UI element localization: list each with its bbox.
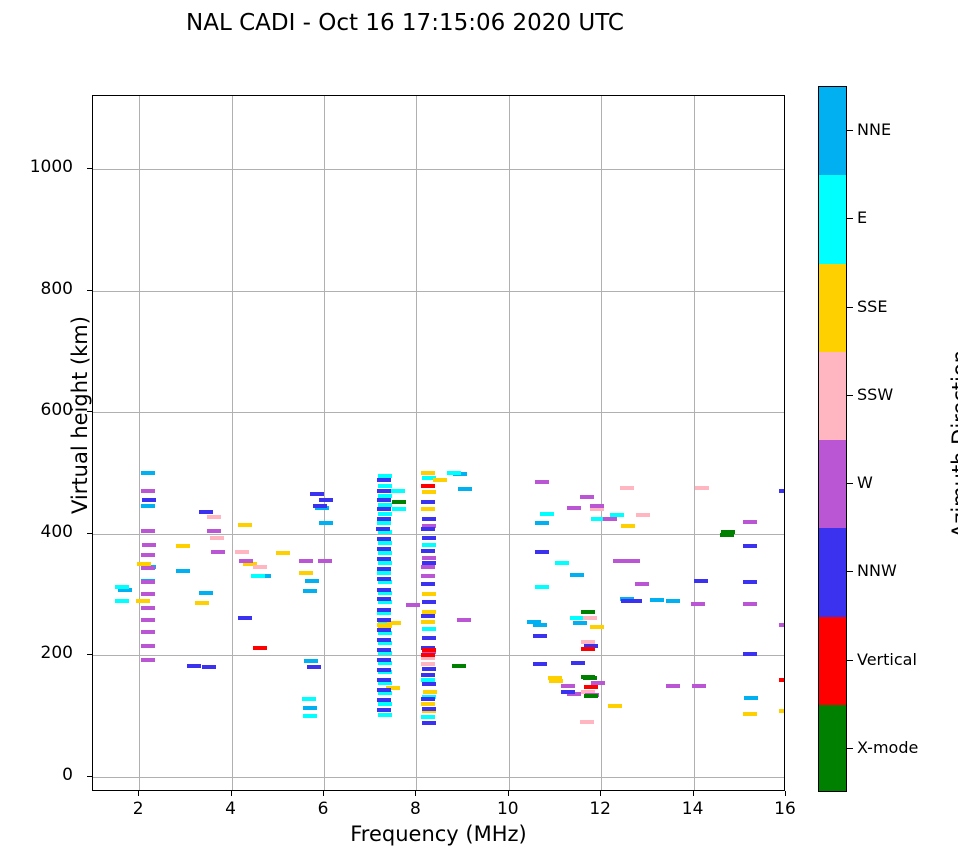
data-mark-w xyxy=(603,517,617,521)
y-tick xyxy=(87,533,92,534)
colorbar-segment-nne xyxy=(819,87,846,176)
data-mark-w xyxy=(141,553,155,557)
colorbar-label-e: E xyxy=(857,208,867,227)
data-mark-nnw xyxy=(571,661,585,665)
data-mark-nnw xyxy=(377,507,391,511)
page-title: NAL CADI - Oct 16 17:15:06 2020 UTC xyxy=(0,10,810,36)
data-mark-e xyxy=(378,512,392,516)
data-mark-nnw xyxy=(377,517,391,521)
data-mark-x-mode xyxy=(392,500,406,504)
data-mark-nne xyxy=(304,659,318,663)
data-mark-nnw xyxy=(421,697,435,701)
data-mark-nnw xyxy=(376,527,390,531)
data-mark-nnw xyxy=(421,614,435,618)
data-mark-e xyxy=(378,541,392,545)
data-mark-vertical xyxy=(581,647,595,651)
data-mark-nne xyxy=(176,569,190,573)
data-mark-nnw xyxy=(421,673,435,677)
data-mark-w xyxy=(743,520,757,524)
colorbar-label-vertical: Vertical xyxy=(857,650,917,669)
x-tick-label: 14 xyxy=(663,799,723,819)
data-mark-e xyxy=(378,713,392,717)
x-tick xyxy=(231,791,232,796)
data-mark-nne xyxy=(141,471,155,475)
x-tick xyxy=(323,791,324,796)
data-mark-nnw xyxy=(533,662,547,666)
data-mark-nnw xyxy=(377,608,391,612)
data-mark-ssw xyxy=(636,513,650,517)
colorbar-tick xyxy=(847,130,853,131)
data-mark-w xyxy=(743,602,757,606)
data-mark-x-mode xyxy=(452,664,466,668)
y-tick xyxy=(87,776,92,777)
data-mark-w xyxy=(211,550,225,554)
colorbar-segment-ssw xyxy=(819,352,846,441)
data-mark-e xyxy=(391,489,405,493)
data-mark-nnw xyxy=(377,668,391,672)
data-mark-ssw xyxy=(207,515,221,519)
data-mark-ssw xyxy=(210,536,224,540)
data-mark-e xyxy=(421,678,435,682)
y-tick-label: 600 xyxy=(0,400,81,420)
data-mark-e xyxy=(303,714,317,718)
data-mark-sse xyxy=(743,712,757,716)
data-mark-e xyxy=(540,512,554,516)
data-mark-nnw xyxy=(307,665,321,669)
data-mark-nne xyxy=(573,621,587,625)
plot-area xyxy=(93,96,784,790)
data-mark-sse xyxy=(195,601,209,605)
data-mark-e xyxy=(378,530,392,534)
data-mark-sse xyxy=(176,544,190,548)
data-mark-e xyxy=(392,507,406,511)
data-mark-nnw xyxy=(743,544,757,548)
data-mark-nnw xyxy=(694,579,708,583)
data-mark-nnw xyxy=(377,588,391,592)
x-tick xyxy=(785,791,786,796)
data-mark-nnw xyxy=(377,658,391,662)
data-mark-nnw xyxy=(422,561,436,565)
data-mark-vertical xyxy=(779,678,784,682)
data-mark-nnw xyxy=(535,550,549,554)
data-mark-nne xyxy=(319,521,333,525)
data-mark-w xyxy=(141,630,155,634)
colorbar-segment-vertical xyxy=(819,617,846,706)
data-mark-e xyxy=(378,551,392,555)
y-tick-label: 1000 xyxy=(0,157,81,177)
y-tick-label: 800 xyxy=(0,279,81,299)
gridline-vertical xyxy=(416,96,417,790)
colorbar-segment-x-mode xyxy=(819,705,846,792)
x-tick xyxy=(138,791,139,796)
plot-frame xyxy=(92,95,785,791)
data-mark-w xyxy=(613,559,627,563)
data-mark-nnw xyxy=(743,652,757,656)
data-mark-sse xyxy=(422,592,436,596)
gridline-vertical xyxy=(509,96,510,790)
data-mark-w xyxy=(207,529,221,533)
data-mark-nnw xyxy=(377,577,391,581)
data-mark-nnw xyxy=(319,498,333,502)
data-mark-sse xyxy=(779,709,784,713)
data-mark-nnw xyxy=(202,665,216,669)
data-mark-sse xyxy=(423,690,437,694)
data-mark-nnw xyxy=(422,636,436,640)
data-mark-nnw xyxy=(421,582,435,586)
gridline-horizontal xyxy=(93,169,784,170)
data-mark-w xyxy=(421,574,435,578)
data-mark-w xyxy=(457,618,471,622)
colorbar-label-ssw: SSW xyxy=(857,385,893,404)
data-mark-e xyxy=(378,702,392,706)
colorbar-label-nnw: NNW xyxy=(857,561,897,580)
data-mark-w xyxy=(141,606,155,610)
x-tick-label: 4 xyxy=(201,799,261,819)
data-mark-nnw xyxy=(422,517,436,521)
data-mark-nnw xyxy=(377,688,391,692)
data-mark-nne xyxy=(535,521,549,525)
data-mark-w xyxy=(635,582,649,586)
data-mark-sse xyxy=(608,704,622,708)
data-mark-w xyxy=(626,559,640,563)
colorbar-tick xyxy=(847,395,853,396)
data-mark-nnw xyxy=(310,492,324,496)
data-mark-e xyxy=(377,571,391,575)
data-mark-e xyxy=(422,543,436,547)
gridline-vertical xyxy=(139,96,140,790)
gridline-horizontal xyxy=(93,534,784,535)
data-mark-w xyxy=(318,559,332,563)
x-tick-label: 16 xyxy=(755,799,815,819)
data-mark-sse xyxy=(422,490,436,494)
y-tick xyxy=(87,654,92,655)
data-mark-nnw xyxy=(422,682,436,686)
y-tick-label: 200 xyxy=(0,643,81,663)
data-mark-vertical xyxy=(421,653,435,657)
gridline-vertical xyxy=(601,96,602,790)
colorbar-label-sse: SSE xyxy=(857,297,887,316)
data-mark-ssw xyxy=(583,616,597,620)
data-mark-nnw xyxy=(561,690,575,694)
data-mark-nnw xyxy=(377,628,391,632)
data-mark-nne xyxy=(650,598,664,602)
data-mark-e xyxy=(377,521,391,525)
data-mark-w xyxy=(299,559,313,563)
data-mark-nnw xyxy=(377,678,391,682)
data-mark-sse xyxy=(421,702,435,706)
data-mark-w xyxy=(141,592,155,596)
data-mark-w xyxy=(141,489,155,493)
data-mark-w xyxy=(141,618,155,622)
data-mark-w xyxy=(580,495,594,499)
data-mark-e xyxy=(447,471,461,475)
colorbar-tick xyxy=(847,483,853,484)
data-mark-w xyxy=(691,602,705,606)
data-mark-nne xyxy=(303,589,317,593)
x-axis-label: Frequency (MHz) xyxy=(92,822,785,846)
data-mark-nne xyxy=(570,573,584,577)
data-mark-nne xyxy=(527,620,541,624)
data-mark-nnw xyxy=(377,557,391,561)
data-mark-w xyxy=(590,504,604,508)
data-mark-nnw xyxy=(377,478,391,482)
x-tick xyxy=(415,791,416,796)
data-mark-nnw xyxy=(421,500,435,504)
data-mark-nnw xyxy=(377,638,391,642)
data-mark-sse xyxy=(136,599,150,603)
data-mark-nne xyxy=(303,706,317,710)
data-mark-w xyxy=(142,543,156,547)
gridline-horizontal xyxy=(93,291,784,292)
data-mark-nne xyxy=(458,487,472,491)
y-tick xyxy=(87,168,92,169)
data-mark-nnw xyxy=(377,698,391,702)
data-mark-e xyxy=(251,574,265,578)
data-mark-sse xyxy=(421,507,435,511)
data-mark-nnw xyxy=(743,580,757,584)
data-mark-ssw xyxy=(695,486,709,490)
gridline-horizontal xyxy=(93,777,784,778)
colorbar-segment-w xyxy=(819,440,846,529)
x-tick xyxy=(693,791,694,796)
data-mark-w xyxy=(141,644,155,648)
data-mark-w xyxy=(421,565,435,569)
data-mark-e xyxy=(378,561,392,565)
y-tick-label: 0 xyxy=(0,765,81,785)
x-tick-label: 6 xyxy=(293,799,353,819)
colorbar-tick xyxy=(847,307,853,308)
data-mark-nne xyxy=(305,579,319,583)
colorbar-label-w: W xyxy=(857,473,873,492)
data-mark-nnw xyxy=(377,489,391,493)
data-mark-nnw xyxy=(422,600,436,604)
data-mark-ssw xyxy=(253,565,267,569)
data-mark-w xyxy=(422,556,436,560)
data-mark-vertical xyxy=(253,646,267,650)
data-mark-nnw xyxy=(377,547,391,551)
data-mark-nnw xyxy=(377,708,391,712)
data-mark-w xyxy=(406,603,420,607)
x-tick-label: 2 xyxy=(108,799,168,819)
data-mark-e xyxy=(115,599,129,603)
data-mark-w xyxy=(535,480,549,484)
data-mark-nnw xyxy=(377,567,391,571)
colorbar-tick xyxy=(847,218,853,219)
data-mark-ssw xyxy=(620,486,634,490)
data-mark-w xyxy=(692,684,706,688)
data-mark-x-mode xyxy=(720,533,734,537)
ionogram-figure: NAL CADI - Oct 16 17:15:06 2020 UTC Freq… xyxy=(0,0,958,857)
x-tick xyxy=(600,791,601,796)
data-mark-nnw xyxy=(422,667,436,671)
data-mark-w xyxy=(141,658,155,662)
data-mark-e xyxy=(421,715,435,719)
data-mark-x-mode xyxy=(581,675,595,679)
data-mark-w xyxy=(779,623,784,627)
data-mark-x-mode xyxy=(581,610,595,614)
colorbar-label-x-mode: X-mode xyxy=(857,738,918,757)
data-mark-nnw xyxy=(313,504,327,508)
data-mark-nnw xyxy=(779,489,784,493)
gridline-vertical xyxy=(232,96,233,790)
data-mark-w xyxy=(239,559,253,563)
data-mark-e xyxy=(555,561,569,565)
data-mark-sse xyxy=(238,523,252,527)
data-mark-ssw xyxy=(580,720,594,724)
colorbar xyxy=(818,86,847,792)
data-mark-e xyxy=(378,503,392,507)
colorbar-segment-e xyxy=(819,175,846,264)
colorbar-tick xyxy=(847,748,853,749)
data-mark-sse xyxy=(299,571,313,575)
data-mark-ssw xyxy=(235,550,249,554)
data-mark-nne xyxy=(199,591,213,595)
gridline-horizontal xyxy=(93,412,784,413)
data-mark-w xyxy=(141,566,155,570)
data-mark-nnw xyxy=(377,648,391,652)
data-mark-nnw xyxy=(421,527,435,531)
data-mark-ssw xyxy=(421,662,435,666)
data-mark-nnw xyxy=(377,537,391,541)
data-mark-e xyxy=(302,697,316,701)
gridline-horizontal xyxy=(93,655,784,656)
colorbar-tick xyxy=(847,660,853,661)
data-mark-e xyxy=(535,585,549,589)
y-tick xyxy=(87,290,92,291)
data-mark-w xyxy=(567,506,581,510)
data-mark-nnw xyxy=(377,618,391,622)
data-mark-nnw xyxy=(422,721,436,725)
colorbar-tick xyxy=(847,571,853,572)
colorbar-segment-sse xyxy=(819,264,846,353)
data-mark-nnw xyxy=(187,664,201,668)
data-mark-sse xyxy=(421,620,435,624)
data-mark-nnw xyxy=(628,599,642,603)
data-mark-nnw xyxy=(533,634,547,638)
data-mark-sse xyxy=(421,471,435,475)
data-mark-vertical xyxy=(584,685,598,689)
x-tick-label: 12 xyxy=(570,799,630,819)
data-mark-e xyxy=(591,517,605,521)
data-mark-sse xyxy=(621,524,635,528)
data-mark-nnw xyxy=(377,597,391,601)
data-mark-nnw xyxy=(421,549,435,553)
data-mark-w xyxy=(666,684,680,688)
x-tick xyxy=(508,791,509,796)
data-mark-nnw xyxy=(377,498,391,502)
data-mark-nne xyxy=(666,599,680,603)
colorbar-segment-nnw xyxy=(819,528,846,617)
x-tick-label: 10 xyxy=(478,799,538,819)
data-mark-w xyxy=(141,529,155,533)
y-tick xyxy=(87,411,92,412)
data-mark-sse xyxy=(549,679,563,683)
data-mark-sse xyxy=(590,625,604,629)
data-mark-vertical xyxy=(422,648,436,652)
x-tick-label: 8 xyxy=(385,799,445,819)
data-mark-w xyxy=(141,580,155,584)
data-mark-e xyxy=(422,627,436,631)
data-mark-nne xyxy=(744,696,758,700)
colorbar-title: Azimuth Direction xyxy=(948,244,958,644)
data-mark-nnw xyxy=(422,707,436,711)
data-mark-sse xyxy=(433,478,447,482)
data-mark-nnw xyxy=(142,498,156,502)
data-mark-nnw xyxy=(199,510,213,514)
colorbar-label-nne: NNE xyxy=(857,120,891,139)
data-mark-nnw xyxy=(238,616,252,620)
data-mark-sse xyxy=(276,551,290,555)
gridline-vertical xyxy=(324,96,325,790)
data-mark-x-mode xyxy=(584,694,598,698)
data-mark-e xyxy=(115,585,129,589)
y-tick-label: 400 xyxy=(0,522,81,542)
data-mark-nnw xyxy=(422,536,436,540)
data-mark-vertical xyxy=(421,484,435,488)
data-mark-nne xyxy=(141,504,155,508)
data-mark-w xyxy=(561,684,575,688)
data-mark-e xyxy=(378,484,392,488)
